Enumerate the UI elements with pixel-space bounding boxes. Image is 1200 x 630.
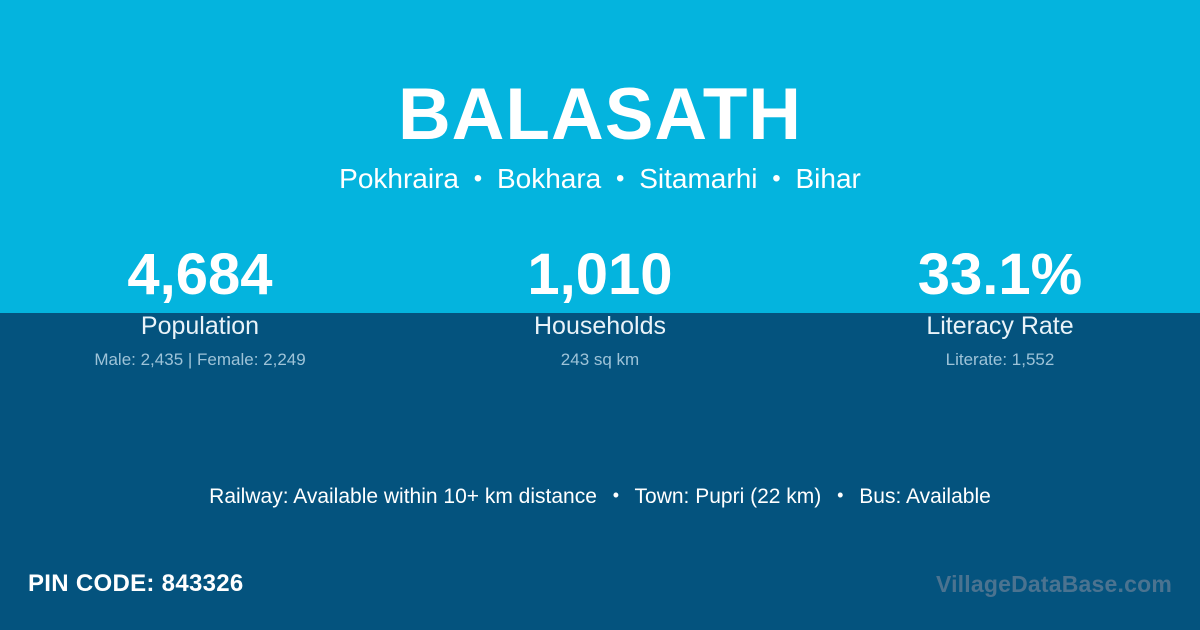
stat-label: Households (400, 313, 800, 341)
stat-value: 1,010 (400, 243, 800, 308)
stat-households: 1,010 Households 243 sq km (400, 243, 800, 370)
page-title: BALASATH (0, 78, 1200, 152)
breadcrumb: Pokhraira • Bokhara • Sitamarhi • Bihar (0, 164, 1200, 195)
stat-detail: 243 sq km (400, 351, 800, 370)
stat-detail: Male: 2,435 | Female: 2,249 (0, 351, 400, 370)
stat-value: 33.1% (800, 243, 1200, 308)
infrastructure-bus: Bus: Available (859, 485, 991, 508)
stat-population: 4,684 Population Male: 2,435 | Female: 2… (0, 243, 400, 370)
breadcrumb-separator-icon: • (765, 165, 787, 192)
stat-literacy-rate: 33.1% Literacy Rate Literate: 1,552 (800, 243, 1200, 370)
infrastructure-separator-icon: • (603, 485, 629, 505)
breadcrumb-state: Bihar (795, 163, 860, 194)
breadcrumb-district: Sitamarhi (639, 163, 757, 194)
breadcrumb-subdistrict: Bokhara (497, 163, 601, 194)
infrastructure-town: Town: Pupri (22 km) (635, 485, 822, 508)
site-brand: VillageDataBase.com (936, 571, 1172, 598)
infrastructure-line: Railway: Available within 10+ km distanc… (0, 484, 1200, 509)
pin-code: PIN CODE: 843326 (28, 570, 244, 598)
stat-detail: Literate: 1,552 (800, 351, 1200, 370)
breadcrumb-separator-icon: • (609, 165, 631, 192)
infrastructure-railway: Railway: Available within 10+ km distanc… (209, 485, 597, 508)
footer: PIN CODE: 843326 VillageDataBase.com (0, 552, 1200, 630)
header: BALASATH Pokhraira • Bokhara • Sitamarhi… (0, 0, 1200, 195)
infrastructure-separator-icon: • (827, 485, 853, 505)
stat-label: Literacy Rate (800, 313, 1200, 341)
stat-label: Population (0, 313, 400, 341)
breadcrumb-separator-icon: • (467, 165, 489, 192)
stats-row: 4,684 Population Male: 2,435 | Female: 2… (0, 243, 1200, 370)
stat-value: 4,684 (0, 243, 400, 308)
breadcrumb-block: Pokhraira (339, 163, 459, 194)
